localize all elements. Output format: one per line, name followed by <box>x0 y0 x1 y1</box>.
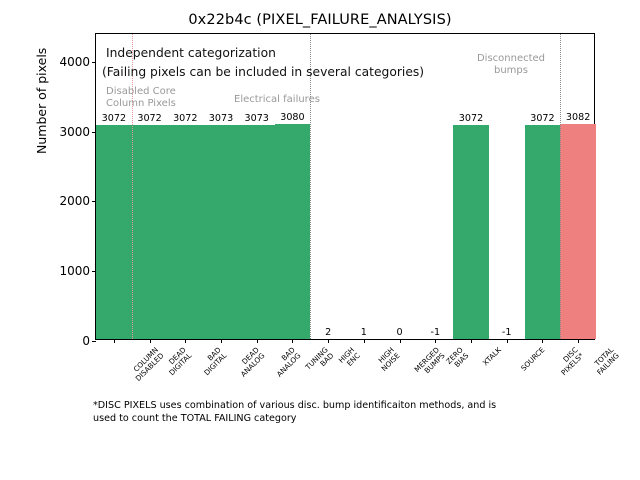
x-tick-label: SOURCE <box>519 346 546 373</box>
chart-title: 0x22b4c (PIXEL_FAILURE_ANALYSIS) <box>0 12 640 28</box>
x-tick-label: BAD DIGITAL <box>198 346 229 377</box>
x-tick-mark <box>328 339 329 343</box>
y-axis-label: Number of pixels <box>34 48 49 154</box>
y-tick-label: 1000 <box>59 264 96 278</box>
y-tick-label: 4000 <box>59 55 96 69</box>
bar-value-label: 3072 <box>137 113 161 124</box>
annotation-group-electrical-failures: Electrical failures <box>234 94 320 106</box>
x-tick-label: TOTAL FAILING <box>590 346 621 377</box>
x-tick-mark <box>435 339 436 343</box>
x-tick-label: MERGED BUMPS <box>413 346 447 380</box>
x-tick-mark <box>578 339 579 343</box>
bar-value-label: 3072 <box>530 113 554 124</box>
y-tick-label: 2000 <box>59 194 96 208</box>
x-tick-mark <box>114 339 115 343</box>
bar <box>203 125 239 339</box>
bar-value-label: 2 <box>325 327 331 338</box>
x-tick-label: DISC PIXELS* <box>555 346 586 377</box>
x-tick-mark <box>507 339 508 343</box>
x-tick-mark <box>364 339 365 343</box>
category-divider <box>132 34 133 339</box>
x-tick-label: COLUMN DISABLED <box>128 346 165 383</box>
bar-value-label: 0 <box>397 327 403 338</box>
bar <box>275 124 311 339</box>
bar-value-label: 3072 <box>102 113 126 124</box>
bar <box>560 124 596 339</box>
x-tick-label: HIGH ENC <box>338 346 362 370</box>
x-tick-mark <box>542 339 543 343</box>
bar <box>453 125 489 339</box>
x-tick-mark <box>257 339 258 343</box>
y-tick-label: 3000 <box>59 125 96 139</box>
category-divider <box>560 34 561 339</box>
x-tick-mark <box>185 339 186 343</box>
x-tick-mark <box>150 339 151 343</box>
bar-value-label: 3082 <box>566 112 590 123</box>
bar-value-label: 3073 <box>209 113 233 124</box>
x-tick-label: DEAD DIGITAL <box>162 346 193 377</box>
annotation-independent-categorization: Independent categorization <box>106 46 276 60</box>
bar-value-label: -1 <box>502 327 512 338</box>
annotation-group-disconnected-bumps: Disconnected bumps <box>456 53 566 76</box>
y-tick-mark <box>92 62 96 63</box>
bar-value-label: 3080 <box>280 112 304 123</box>
x-tick-label: HIGH NOISE <box>374 346 401 373</box>
y-tick-mark <box>92 341 96 342</box>
plot-inner: 01000200030004000 3072307230723073307330… <box>96 34 594 339</box>
bar-value-label: 3072 <box>173 113 197 124</box>
x-tick-mark <box>221 339 222 343</box>
category-divider <box>310 34 311 339</box>
x-tick-mark <box>400 339 401 343</box>
chart-footnote: *DISC PIXELS uses combination of various… <box>93 400 573 426</box>
x-tick-mark <box>471 339 472 343</box>
bar-value-label: 1 <box>361 327 367 338</box>
bar <box>96 125 132 339</box>
bar-value-label: 3072 <box>459 113 483 124</box>
x-tick-label: TUNING BAD <box>305 346 336 377</box>
bar <box>239 125 275 339</box>
chart-figure: 0x22b4c (PIXEL_FAILURE_ANALYSIS) Number … <box>0 0 640 480</box>
annotation-failing-pixels-note: (Failing pixels can be included in sever… <box>102 65 424 79</box>
annotation-group-disabled-core: Disabled Core Column Pixels <box>106 86 176 109</box>
x-tick-label: BAD ANALOG <box>270 346 303 379</box>
bar <box>167 125 203 339</box>
x-tick-label: XTALK <box>482 346 503 367</box>
x-tick-label: ZERO BIAS <box>445 346 471 372</box>
x-tick-mark <box>292 339 293 343</box>
x-tick-label: DEAD ANALOG <box>234 346 267 379</box>
bar-value-label: 3073 <box>244 113 268 124</box>
bar <box>132 125 168 339</box>
bar-value-label: -1 <box>430 327 440 338</box>
bar <box>525 125 561 339</box>
plot-area: Number of pixels 01000200030004000 30723… <box>95 33 595 340</box>
